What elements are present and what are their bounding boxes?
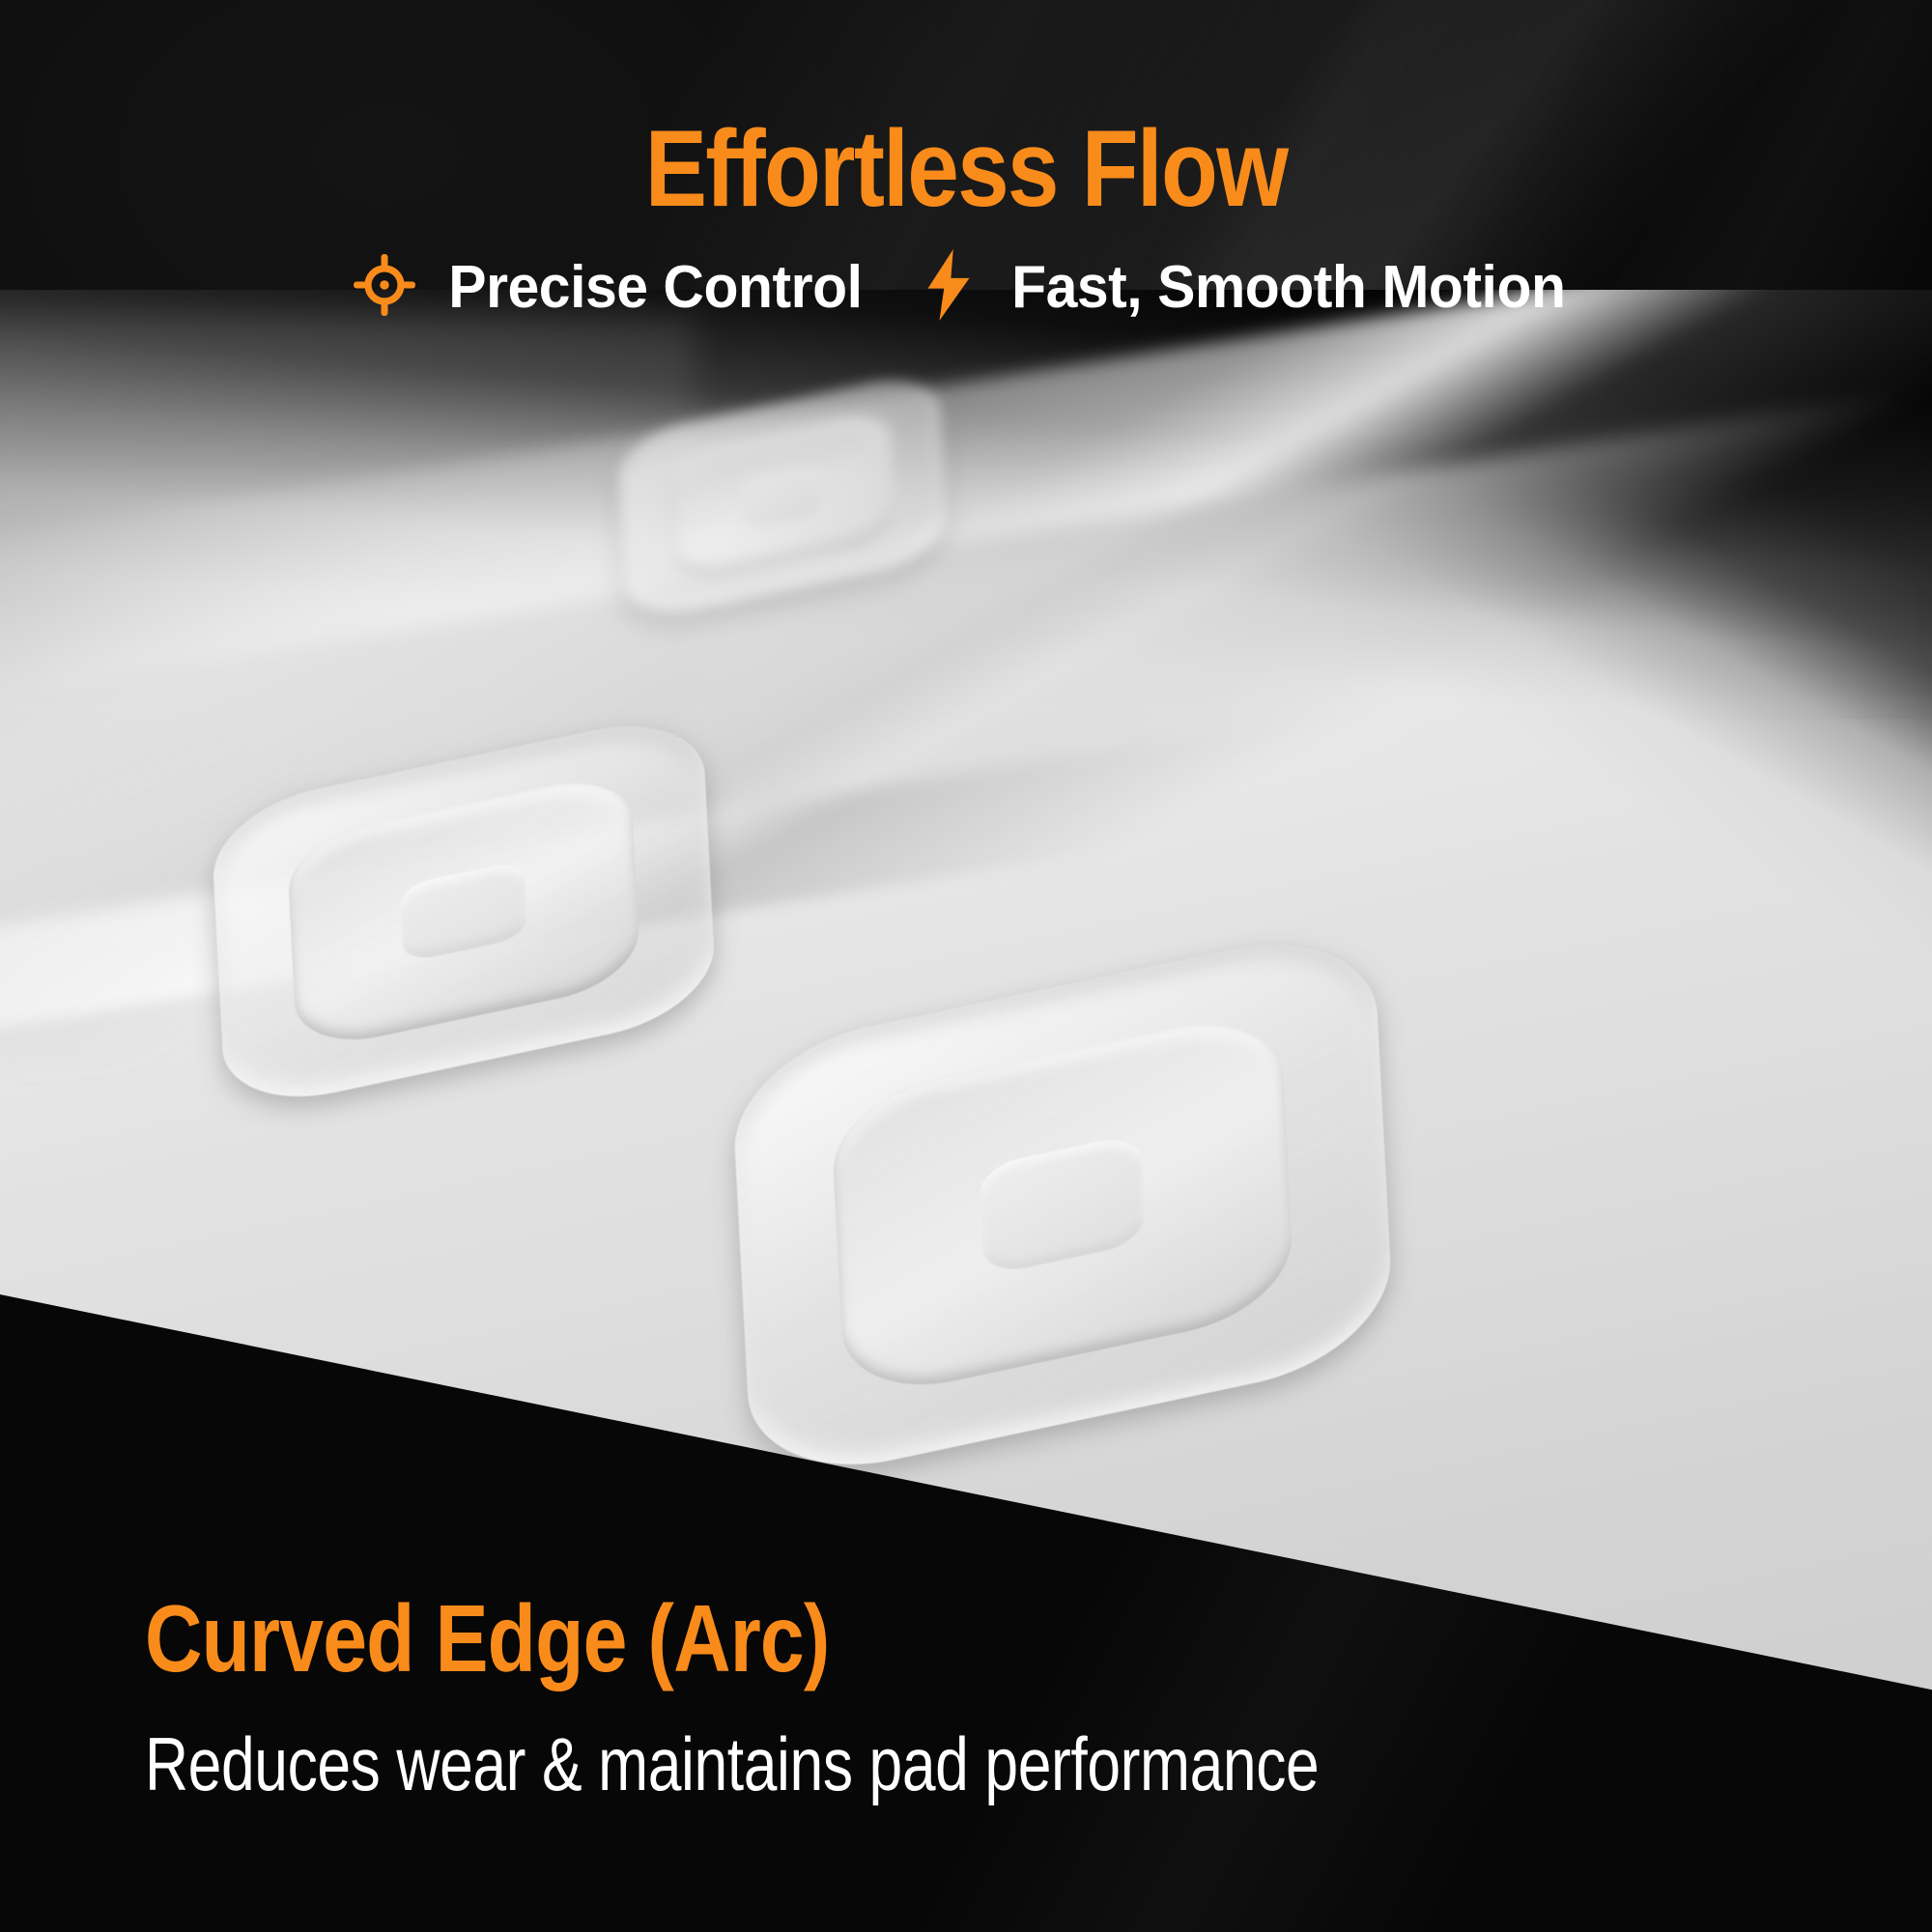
page-title: Effortless Flow xyxy=(135,114,1797,224)
feature-label-fast-smooth-motion: Fast, Smooth Motion xyxy=(1011,253,1565,322)
feature-label-precise-control: Precise Control xyxy=(448,253,862,322)
poster-footer: Curved Edge (Arc) Reduces wear & maintai… xyxy=(0,1584,1932,1932)
footer-description: Reduces wear & maintains pad performance xyxy=(145,1720,1575,1808)
emblem-core xyxy=(400,861,527,963)
footer-heading: Curved Edge (Arc) xyxy=(145,1584,1646,1693)
pad-emboss-emblem-right xyxy=(730,920,1396,1490)
emblem-core xyxy=(741,465,824,529)
poster-header: Effortless Flow Precise Control xyxy=(0,0,1932,326)
emblem-core xyxy=(979,1133,1147,1277)
emblem-inner-ring xyxy=(667,408,898,587)
lightning-bolt-icon xyxy=(922,249,976,326)
crosshair-target-icon xyxy=(353,253,416,322)
feature-list: Precise Control Fast, Smooth Motion xyxy=(0,249,1932,326)
product-feature-poster: Effortless Flow Precise Control xyxy=(0,0,1932,1932)
emblem-inner-ring xyxy=(830,1006,1295,1405)
emblem-inner-ring xyxy=(286,769,641,1055)
